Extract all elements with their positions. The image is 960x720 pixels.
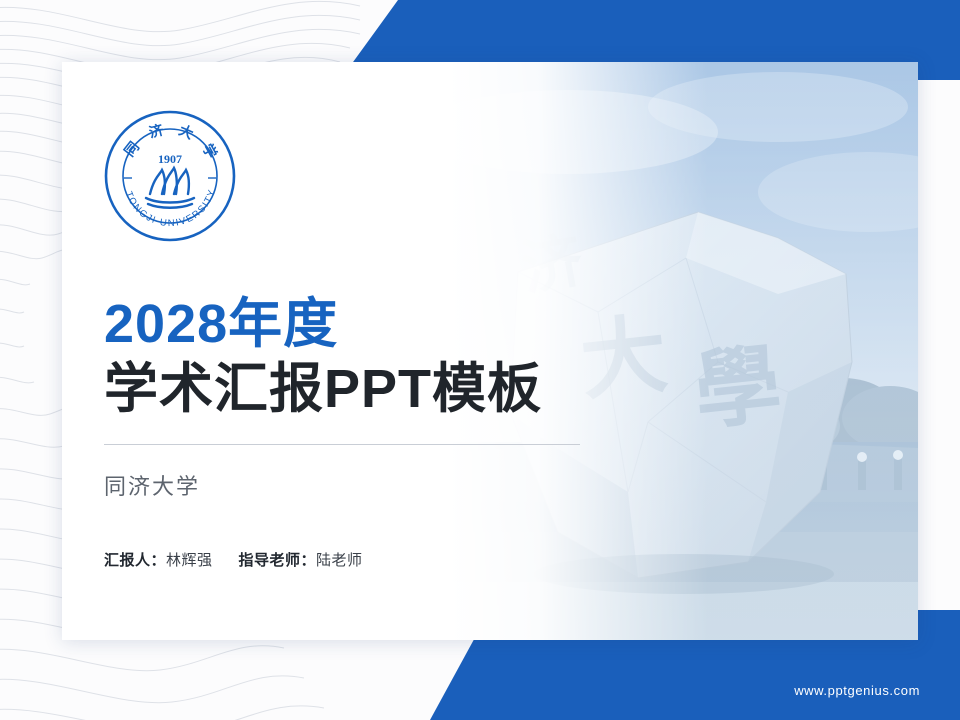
title-block: 2028年度 学术汇报PPT模板 同济大学 [104, 294, 624, 501]
presenter-name: 林辉强 [166, 552, 213, 569]
slide-card: 大 學 济 同 济 大 学 TONGJI UNIVERSI [62, 62, 918, 640]
presenter-label: 汇报人： [104, 552, 166, 569]
title-divider [104, 444, 580, 445]
title-main: 学术汇报PPT模板 [104, 358, 624, 422]
advisor-name: 陆老师 [316, 552, 363, 569]
school-name: 同济大学 [104, 469, 624, 501]
presenter-info: 汇报人：林辉强指导老师：陆老师 [104, 549, 363, 570]
advisor-label: 指导老师： [239, 552, 317, 569]
title-year: 2028年度 [104, 294, 624, 354]
svg-text:1907: 1907 [158, 152, 182, 166]
tongji-university-logo: 同 济 大 学 TONGJI UNIVERSITY 1907 [102, 108, 238, 244]
site-url[interactable]: www.pptgenius.com [794, 683, 920, 698]
